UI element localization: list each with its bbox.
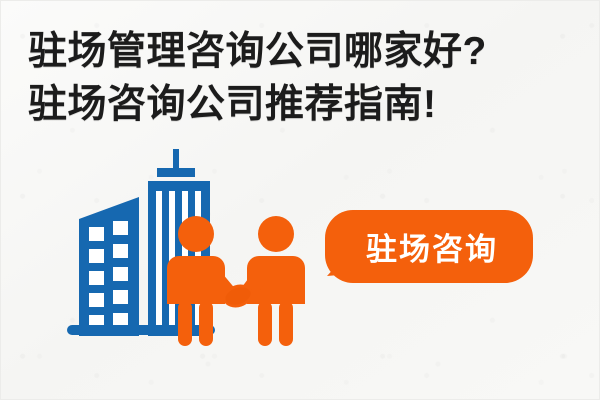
- illustration-svg: [61, 141, 321, 346]
- page-title: 驻场管理咨询公司哪家好? 驻场咨询公司推荐指南!: [28, 25, 573, 131]
- rooftop-antenna-icon: [157, 149, 195, 177]
- person-right-figure: [239, 216, 305, 346]
- illustration-handshake-buildings: [61, 141, 321, 346]
- short-building: [79, 197, 139, 336]
- badge-label: 驻场咨询: [325, 210, 533, 283]
- status-badge[interactable]: 驻场咨询: [325, 210, 533, 284]
- poster-canvas: 驻场管理咨询公司哪家好? 驻场咨询公司推荐指南!: [0, 0, 600, 400]
- ground-bar: [67, 325, 215, 335]
- headline-line-2: 驻场咨询公司推荐指南!: [28, 78, 573, 131]
- headline-line-1: 驻场管理咨询公司哪家好?: [28, 25, 573, 78]
